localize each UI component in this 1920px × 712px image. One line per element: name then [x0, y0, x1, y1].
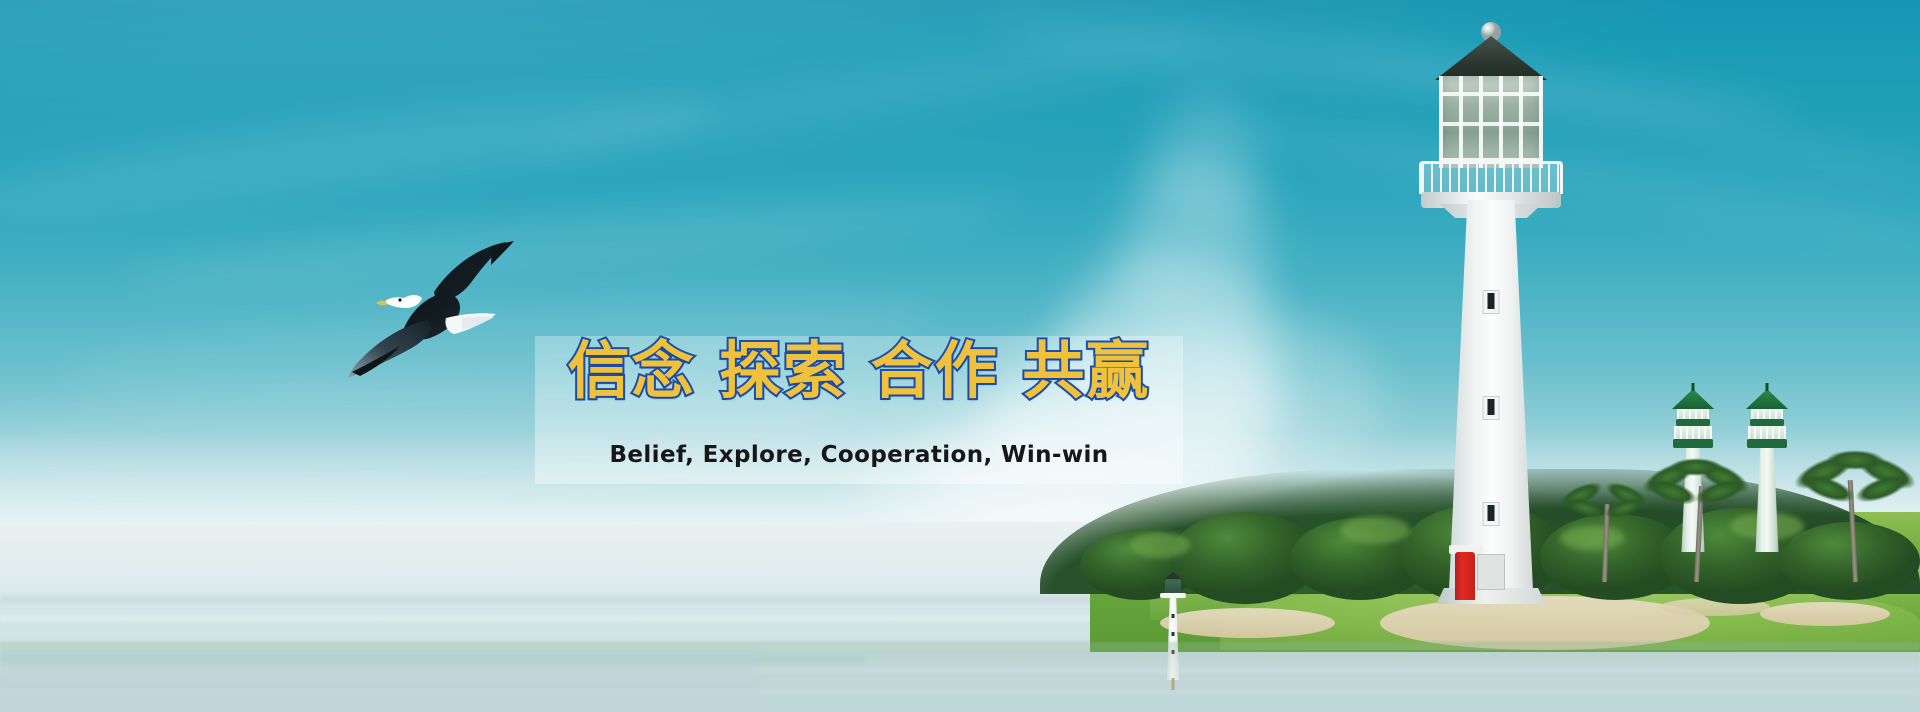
lighthouse-window	[1483, 290, 1500, 314]
lighthouse-lantern-room	[1439, 76, 1543, 168]
lighthouse-window	[1483, 502, 1500, 526]
slogan-subtitle-en: Belief, Explore, Cooperation, Win-win	[535, 442, 1183, 468]
slogan-headline-cn: 信念 探索 合作 共赢	[535, 338, 1183, 403]
bald-eagle-icon	[342, 240, 524, 380]
banner-stage: 信念 探索 合作 共赢 Belief, Explore, Cooperation…	[0, 0, 1920, 712]
lighthouse-plaque	[1477, 554, 1505, 590]
sand-bunker	[1760, 602, 1890, 626]
water-reflection-left	[0, 650, 760, 712]
palm-tree	[1790, 456, 1920, 582]
palm-tree	[1556, 482, 1652, 582]
lighthouse-red-door	[1455, 552, 1475, 600]
lighthouse-base	[1429, 588, 1553, 604]
slogan-panel: 信念 探索 合作 共赢 Belief, Explore, Cooperation…	[535, 336, 1183, 484]
palm-tree	[1636, 462, 1756, 582]
lighthouse-window	[1483, 396, 1500, 420]
lighthouse	[1421, 80, 1561, 600]
lighthouse-gallery-railing	[1419, 161, 1563, 194]
